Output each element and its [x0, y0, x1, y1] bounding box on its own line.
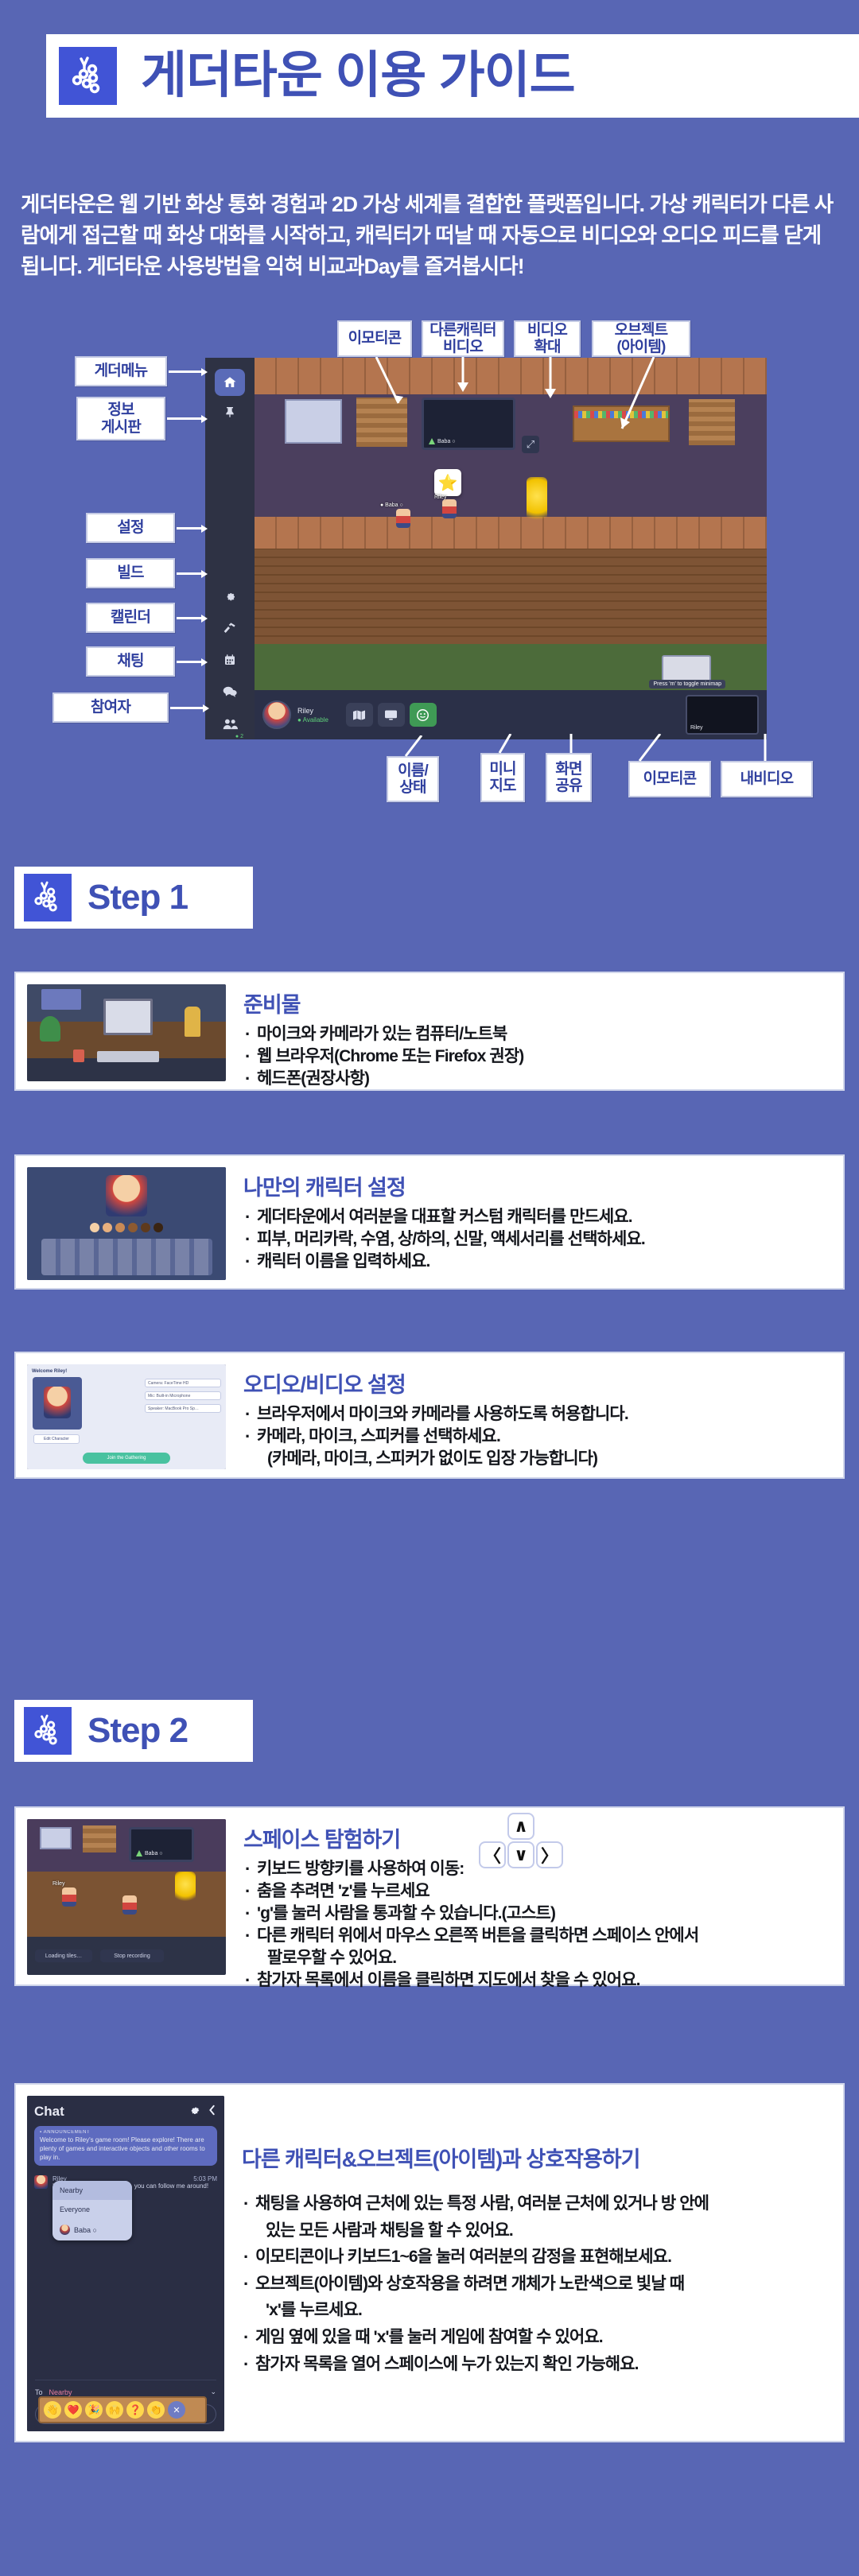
emoji-heart[interactable]: ❤️ — [64, 2401, 82, 2419]
leader-line — [375, 357, 406, 406]
list-item: 웹 브라우저(Chrome 또는 Firefox 권장) — [243, 1046, 523, 1068]
keyboard — [97, 1051, 159, 1062]
leader-line — [167, 417, 202, 420]
card-list: 마이크와 카메라가 있는 컴퓨터/노트북 웹 브라우저(Chrome 또는 Fi… — [243, 1023, 523, 1090]
chat-header-icons — [189, 2105, 217, 2119]
sidebar-item-settings[interactable] — [215, 580, 245, 612]
list-item: 'g'를 눌러 사람을 통과할 수 있습니다.(고스트) — [243, 1903, 832, 1925]
participant-count: ● 2 — [235, 734, 243, 739]
character-cone-icon — [136, 1850, 142, 1856]
gather-bottom-toolbar: Riley ● Available Riley — [255, 690, 767, 739]
gather-grapes-logo-icon — [24, 1707, 72, 1755]
leader-line — [541, 357, 560, 402]
sidebar-item-participants[interactable]: ● 2 — [215, 708, 245, 739]
to-value: Nearby — [49, 2388, 72, 2396]
wood-panel — [83, 1825, 116, 1852]
callout-object-item: 오브젝트 (아이템) — [592, 320, 690, 357]
poster — [40, 1827, 72, 1849]
avatar-nametag: Riley — [52, 1881, 65, 1887]
avatar — [396, 509, 410, 528]
intro-paragraph: 게더타운은 웹 기반 화상 통화 경험과 2D 가상 세계를 결합한 플랫폼입니… — [21, 189, 840, 282]
callout-build: 빌드 — [86, 558, 175, 588]
hero-diagram: Baba ○ ⤢ ⭐ ● Baba ○ Riley Press 'm' to t… — [0, 306, 859, 823]
card-list: 브라우저에서 마이크와 카메라를 사용하도록 허용합니다. 카메라, 마이크, … — [243, 1403, 628, 1470]
video-expand-button[interactable]: ⤢ — [522, 436, 539, 453]
leader-line — [177, 661, 202, 663]
card-title: 오디오/비디오 설정 — [243, 1368, 628, 1399]
leader-line — [453, 357, 472, 395]
character-cone-icon — [429, 438, 435, 444]
step-1-header: Step 1 — [14, 867, 253, 929]
color-swatch[interactable] — [154, 1223, 163, 1232]
sidebar-item-gather-menu[interactable] — [215, 369, 245, 396]
announcement-header: ▪ ANNOUNCEMENT — [40, 2130, 212, 2135]
callout-calendar: 캘린더 — [86, 603, 175, 633]
mock-heading: Welcome Riley! — [32, 1369, 221, 1374]
color-swatch[interactable] — [90, 1223, 99, 1232]
leader-line — [170, 707, 204, 709]
arrow-up-key[interactable]: ∧ — [507, 1813, 534, 1840]
av-settings-screenshot: Welcome Riley! Camera: FaceTime HD Mic: … — [27, 1364, 226, 1469]
dropdown-option-everyone[interactable]: Everyone — [52, 2200, 132, 2219]
emoji-wave[interactable]: 👋 — [44, 2401, 61, 2419]
sidebar-item-build[interactable] — [215, 612, 245, 644]
callout-name-status: 이름/ 상태 — [387, 756, 439, 802]
list-item: 캐릭터 이름을 입력하세요. — [243, 1251, 645, 1273]
page-header: 게더타운 이용 가이드 — [46, 34, 859, 118]
speaker-select[interactable]: Speaker: MacBook Pro Sp… — [145, 1404, 221, 1413]
avatar-preview — [106, 1175, 147, 1216]
list-item: 다른 캐릭터 위에서 마우스 오른쪽 버튼을 클릭하면 스페이스 안에서 — [243, 1925, 832, 1947]
announcement-body: Welcome to Riley's game room! Please exp… — [40, 2136, 212, 2162]
camera-select[interactable]: Camera: FaceTime HD — [145, 1379, 221, 1387]
my-video-nametag: Riley — [690, 725, 703, 731]
close-icon[interactable]: ✕ — [168, 2401, 185, 2419]
leader-line — [177, 527, 202, 530]
to-label: To — [35, 2388, 43, 2396]
chat-header: Chat — [34, 2104, 217, 2120]
mock-scene — [27, 1167, 226, 1280]
gather-grapes-logo-icon — [59, 47, 117, 105]
mic-select[interactable]: Mic: Built-in Microphone — [145, 1391, 221, 1400]
card-title: 나만의 캐릭터 설정 — [243, 1170, 645, 1201]
leader-line — [756, 734, 775, 762]
toolbar-chip[interactable]: Loading tiles… — [35, 1949, 92, 1962]
list-item: 있는 모든 사람과 채팅을 할 수 있어요. — [242, 2217, 709, 2244]
character-editor-screenshot — [27, 1167, 226, 1280]
mock-scene: Welcome Riley! Camera: FaceTime HD Mic: … — [27, 1364, 226, 1469]
poster — [41, 989, 81, 1010]
list-item: 피부, 머리카락, 수염, 상/하의, 신말, 액세서리를 선택하세요. — [243, 1228, 645, 1251]
plant — [40, 1016, 60, 1042]
toolbar-chip[interactable]: Stop recording — [100, 1949, 164, 1962]
callout-emoji-toolbar: 이모티콘 — [628, 761, 711, 797]
status-badge: ● Available — [297, 716, 328, 724]
tv-nametag: Baba ○ — [429, 438, 456, 444]
list-item: (카메라, 마이크, 스피커가 없이도 입장 가능합니다) — [243, 1448, 628, 1470]
page-title: 게더타운 이용 가이드 — [141, 51, 575, 101]
join-button[interactable]: Join the Gathering — [83, 1453, 170, 1464]
lamp — [185, 1007, 200, 1037]
card-character-setup: 나만의 캐릭터 설정 게더타운에서 여러분을 대표할 커스텀 캐릭터를 만드세요… — [14, 1154, 845, 1290]
card-interaction: Chat ▪ ANNOUNCEMENT Welcome to Riley's g… — [14, 2083, 845, 2442]
other-character-video-tv: Baba ○ — [422, 398, 515, 450]
chevron-left-icon[interactable] — [208, 2105, 217, 2119]
minimap[interactable] — [662, 655, 711, 682]
callout-video-expand: 비디오 확대 — [514, 320, 581, 357]
game-world: Baba ○ ⤢ ⭐ ● Baba ○ Riley Press 'm' to t… — [255, 358, 767, 739]
list-item: 이모티콘이나 키보드1~6을 눌러 여러분의 감정을 표현해보세요. — [242, 2244, 709, 2271]
toolbar-button-group — [346, 703, 437, 727]
callout-my-video: 내비디오 — [721, 761, 813, 797]
video-tv: Baba ○ — [129, 1827, 194, 1862]
step-2-header: Step 2 — [14, 1700, 253, 1762]
leader-line — [562, 734, 581, 755]
tv-nametag: Baba ○ — [136, 1850, 163, 1856]
emoji-question[interactable]: ❓ — [126, 2401, 144, 2419]
list-item: 'x'를 누르세요. — [242, 2297, 709, 2324]
wardrobe-grid[interactable] — [41, 1239, 212, 1275]
emoji-bar: 👋 ❤️ 🎉 🙌 ❓ 👏 ✕ — [38, 2396, 207, 2423]
emoji-clap[interactable]: 👏 — [147, 2401, 165, 2419]
emoji-raise-hand[interactable]: 🙌 — [106, 2401, 123, 2419]
card-body: 나만의 캐릭터 설정 게더타운에서 여러분을 대표할 커스텀 캐릭터를 만드세요… — [226, 1156, 656, 1281]
card-body: 오디오/비디오 설정 브라우저에서 마이크와 카메라를 사용하도록 허용합니다.… — [226, 1353, 639, 1478]
avatar — [44, 1387, 71, 1418]
list-item: 마이크와 카메라가 있는 컴퓨터/노트북 — [243, 1023, 523, 1046]
card-preparation: 준비물 마이크와 카메라가 있는 컴퓨터/노트북 웹 브라우저(Chrome 또… — [14, 972, 845, 1091]
leader-line — [177, 572, 202, 575]
card-body: 다른 캐릭터&오브젝트(아이템)과 상호작용하기 채팅을 사용하여 근처에 있는… — [224, 2085, 720, 2385]
message-time: 5:03 PM — [193, 2175, 217, 2182]
emoji-bubble: ⭐ — [434, 469, 461, 496]
list-item: 참가자 목록에서 이름을 클릭하면 지도에서 찾을 수 있어요. — [243, 1969, 832, 1992]
leader-line — [628, 734, 665, 762]
chat-panel-screenshot: Chat ▪ ANNOUNCEMENT Welcome to Riley's g… — [27, 2096, 224, 2431]
card-list: 채팅을 사용하여 근처에 있는 특정 사람, 여러분 근처에 있거나 방 안에 … — [242, 2190, 709, 2377]
leader-line — [617, 357, 662, 436]
color-swatch[interactable] — [103, 1223, 112, 1232]
swatch-row — [90, 1223, 163, 1232]
callout-info-board: 정보 게시판 — [76, 397, 165, 440]
list-item: 오브젝트(아이템)와 상호작용을 하려면 개체가 노란색으로 빛날 때 — [242, 2271, 709, 2298]
callout-chat: 채팅 — [86, 646, 175, 677]
list-item: 팔로우할 수 있어요. — [243, 1947, 832, 1969]
list-item: 게더타운에서 여러분을 대표할 커스텀 캐릭터를 만드세요. — [243, 1206, 645, 1228]
list-item: 키보드 방향키를 사용하여 이동: — [243, 1858, 832, 1880]
color-swatch[interactable] — [128, 1223, 138, 1232]
sidebar-item-chat[interactable] — [215, 676, 245, 708]
emoji-button[interactable] — [410, 703, 437, 727]
avatar — [34, 2175, 48, 2189]
brick-wall-band — [255, 517, 767, 549]
recipient-row[interactable]: To Nearby ⌄ — [35, 2380, 216, 2396]
camera-preview — [33, 1377, 82, 1430]
list-item: 채팅을 사용하여 근처에 있는 특정 사람, 여러분 근처에 있거나 방 안에 — [242, 2190, 709, 2217]
mock-scene — [27, 984, 226, 1081]
callout-emoji: 이모티콘 — [337, 320, 412, 357]
space-explore-screenshot: Baba ○ Riley Loading tiles… Stop recordi… — [27, 1819, 226, 1975]
callout-gather-menu: 게더메뉴 — [75, 356, 167, 386]
mug — [73, 1049, 84, 1062]
card-av-settings: Welcome Riley! Camera: FaceTime HD Mic: … — [14, 1352, 845, 1479]
card-title: 다른 캐릭터&오브젝트(아이템)과 상호작용하기 — [242, 2142, 709, 2173]
sidebar-item-info-board[interactable] — [215, 396, 245, 428]
callout-participants: 참여자 — [52, 692, 169, 723]
avatar — [442, 499, 457, 518]
callout-other-character-video: 다른캐릭터 비디오 — [422, 320, 504, 357]
chat-panel: Chat ▪ ANNOUNCEMENT Welcome to Riley's g… — [27, 2096, 224, 2431]
color-swatch[interactable] — [141, 1223, 150, 1232]
avatar[interactable] — [262, 700, 291, 729]
card-body: 스페이스 탐험하기 ∧ 〈 ∨ 〉 키보드 방향키를 사용하여 이동: 춤을 추… — [226, 1808, 843, 2000]
gather-grapes-logo-icon — [24, 874, 72, 921]
avatar — [122, 1895, 137, 1915]
glowing-object-item[interactable] — [175, 1872, 196, 1903]
list-item: 카메라, 마이크, 스피커를 선택하세요. — [243, 1426, 628, 1448]
announcement-bubble: ▪ ANNOUNCEMENT Welcome to Riley's game r… — [34, 2126, 217, 2166]
screen-share-button[interactable] — [378, 703, 405, 727]
minimap-button[interactable] — [346, 703, 373, 727]
step-1-label: Step 1 — [87, 880, 188, 915]
desk-computer-screenshot — [27, 984, 226, 1081]
my-video-tile[interactable]: Riley — [686, 695, 759, 735]
list-item: 춤을 추려면 'z'를 누르세요 — [243, 1880, 832, 1903]
sidebar-item-calendar[interactable] — [215, 644, 245, 676]
leader-line — [169, 370, 202, 373]
color-swatch[interactable] — [115, 1223, 125, 1232]
recipient-dropdown[interactable]: Nearby Everyone Baba ○ — [52, 2181, 132, 2240]
callout-screen-share: 화면 공유 — [546, 753, 592, 802]
avatar-nametag: Riley — [434, 495, 447, 500]
poster — [285, 399, 342, 444]
chevron-down-icon[interactable]: ⌄ — [210, 2388, 216, 2396]
leader-line — [492, 734, 515, 755]
card-list: 게더타운에서 여러분을 대표할 커스텀 캐릭터를 만드세요. 피부, 머리카락,… — [243, 1206, 645, 1273]
leader-line — [395, 735, 426, 758]
glowing-object-item[interactable] — [527, 477, 547, 525]
step-2-label: Step 2 — [87, 1713, 188, 1748]
card-explore-space: Baba ○ Riley Loading tiles… Stop recordi… — [14, 1806, 845, 1986]
card-body: 준비물 마이크와 카메라가 있는 컴퓨터/노트북 웹 브라우저(Chrome 또… — [226, 973, 534, 1098]
avatar — [62, 1887, 76, 1907]
gather-left-rail: ● 2 — [205, 358, 255, 739]
monitor — [103, 999, 153, 1035]
wood-floor — [255, 549, 767, 644]
chat-title: Chat — [34, 2104, 64, 2120]
brick-wall-top — [255, 358, 767, 394]
gather-space-screenshot: Baba ○ ⤢ ⭐ ● Baba ○ Riley Press 'm' to t… — [205, 358, 767, 739]
name-status[interactable]: Riley ● Available — [297, 707, 328, 724]
avatar-nametag: ● Baba ○ — [380, 502, 403, 508]
minimap-tooltip: Press 'm' to toggle minimap — [649, 680, 725, 689]
emoji-party[interactable]: 🎉 — [85, 2401, 103, 2419]
list-item: 브라우저에서 마이크와 카메라를 사용하도록 허용합니다. — [243, 1403, 628, 1426]
dropdown-option-baba[interactable]: Baba ○ — [52, 2219, 132, 2240]
callout-minimap: 미니 지도 — [480, 753, 525, 802]
list-item: 참가자 목록을 열어 스페이스에 누가 있는지 확인 가능해요. — [242, 2351, 709, 2378]
dropdown-option-nearby[interactable]: Nearby — [52, 2181, 132, 2200]
gear-icon[interactable] — [189, 2105, 200, 2119]
avatar — [60, 2225, 70, 2235]
card-list: 키보드 방향키를 사용하여 이동: 춤을 추려면 'z'를 누르세요 'g'를 … — [243, 1858, 832, 1992]
wood-panel — [689, 399, 735, 445]
edit-character-button[interactable]: Edit Character — [33, 1434, 80, 1444]
list-item: 헤드폰(권장사항) — [243, 1068, 523, 1090]
leader-line — [177, 617, 202, 619]
list-item: 게임 옆에 있을 때 'x'를 눌러 게임에 참여할 수 있어요. — [242, 2324, 709, 2351]
callout-settings: 설정 — [86, 513, 175, 543]
card-title: 준비물 — [243, 987, 523, 1018]
mock-scene: Baba ○ Riley Loading tiles… Stop recordi… — [27, 1819, 226, 1975]
